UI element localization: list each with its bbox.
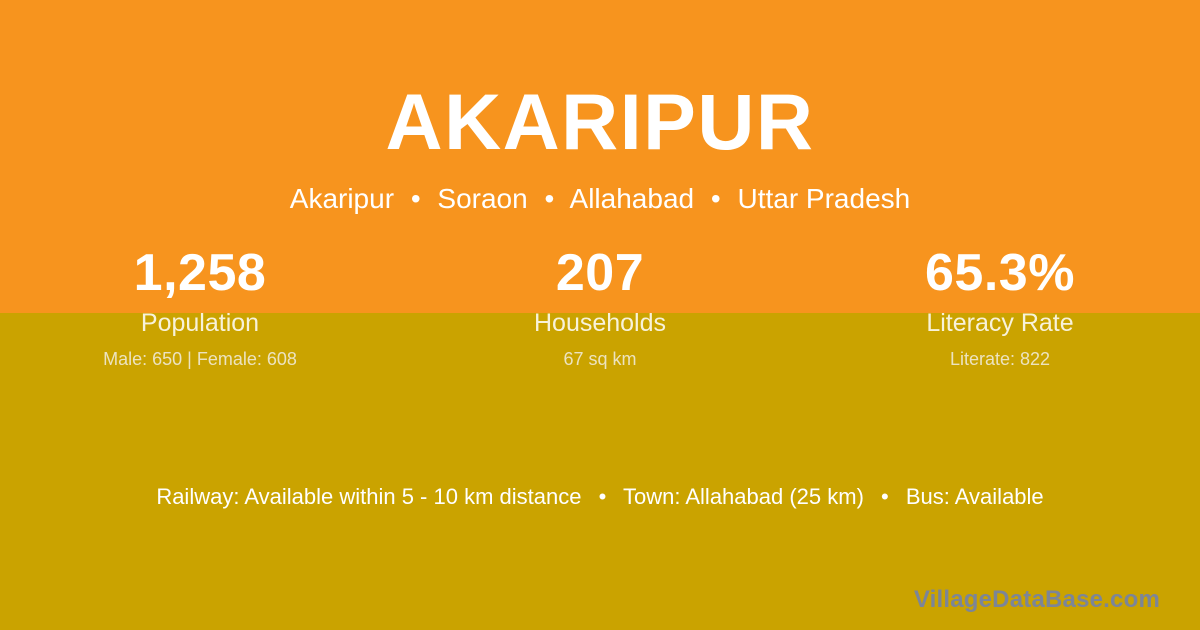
breadcrumb-block: Soraon [437, 183, 527, 214]
stat-label: Literacy Rate [800, 311, 1200, 336]
stat-detail: 67 sq km [400, 350, 800, 368]
brand-watermark: VillageDataBase.com [914, 588, 1160, 612]
breadcrumb-separator-icon: • [402, 185, 430, 213]
stat-value: 207 [400, 243, 800, 303]
header: AKARIPUR Akaripur • Soraon • Allahabad •… [0, 0, 1200, 213]
stat-population: 1,258 Population Male: 650 | Female: 608 [0, 243, 400, 368]
stats-row: 1,258 Population Male: 650 | Female: 608… [0, 243, 1200, 368]
breadcrumb-state: Uttar Pradesh [737, 183, 910, 214]
breadcrumb-district: Allahabad [570, 183, 695, 214]
amenity-town: Town: Allahabad (25 km) [623, 484, 864, 509]
stat-detail: Literate: 822 [800, 350, 1200, 368]
stat-literacy-rate: 65.3% Literacy Rate Literate: 822 [800, 243, 1200, 368]
amenity-separator-icon: • [870, 486, 900, 508]
breadcrumb: Akaripur • Soraon • Allahabad • Uttar Pr… [0, 185, 1200, 213]
amenity-railway: Railway: Available within 5 - 10 km dist… [156, 484, 581, 509]
stat-label: Population [0, 311, 400, 336]
stat-households: 207 Households 67 sq km [400, 243, 800, 368]
breadcrumb-separator-icon: • [702, 185, 730, 213]
breadcrumb-village: Akaripur [290, 183, 394, 214]
village-info-card: AKARIPUR Akaripur • Soraon • Allahabad •… [0, 0, 1200, 630]
page-title: AKARIPUR [0, 82, 1200, 161]
stat-value: 1,258 [0, 243, 400, 303]
stat-detail: Male: 650 | Female: 608 [0, 350, 400, 368]
stat-label: Households [400, 311, 800, 336]
amenity-separator-icon: • [588, 486, 618, 508]
stat-value: 65.3% [800, 243, 1200, 303]
amenity-bus: Bus: Available [906, 484, 1044, 509]
amenities-row: Railway: Available within 5 - 10 km dist… [0, 486, 1200, 508]
breadcrumb-separator-icon: • [535, 185, 563, 213]
